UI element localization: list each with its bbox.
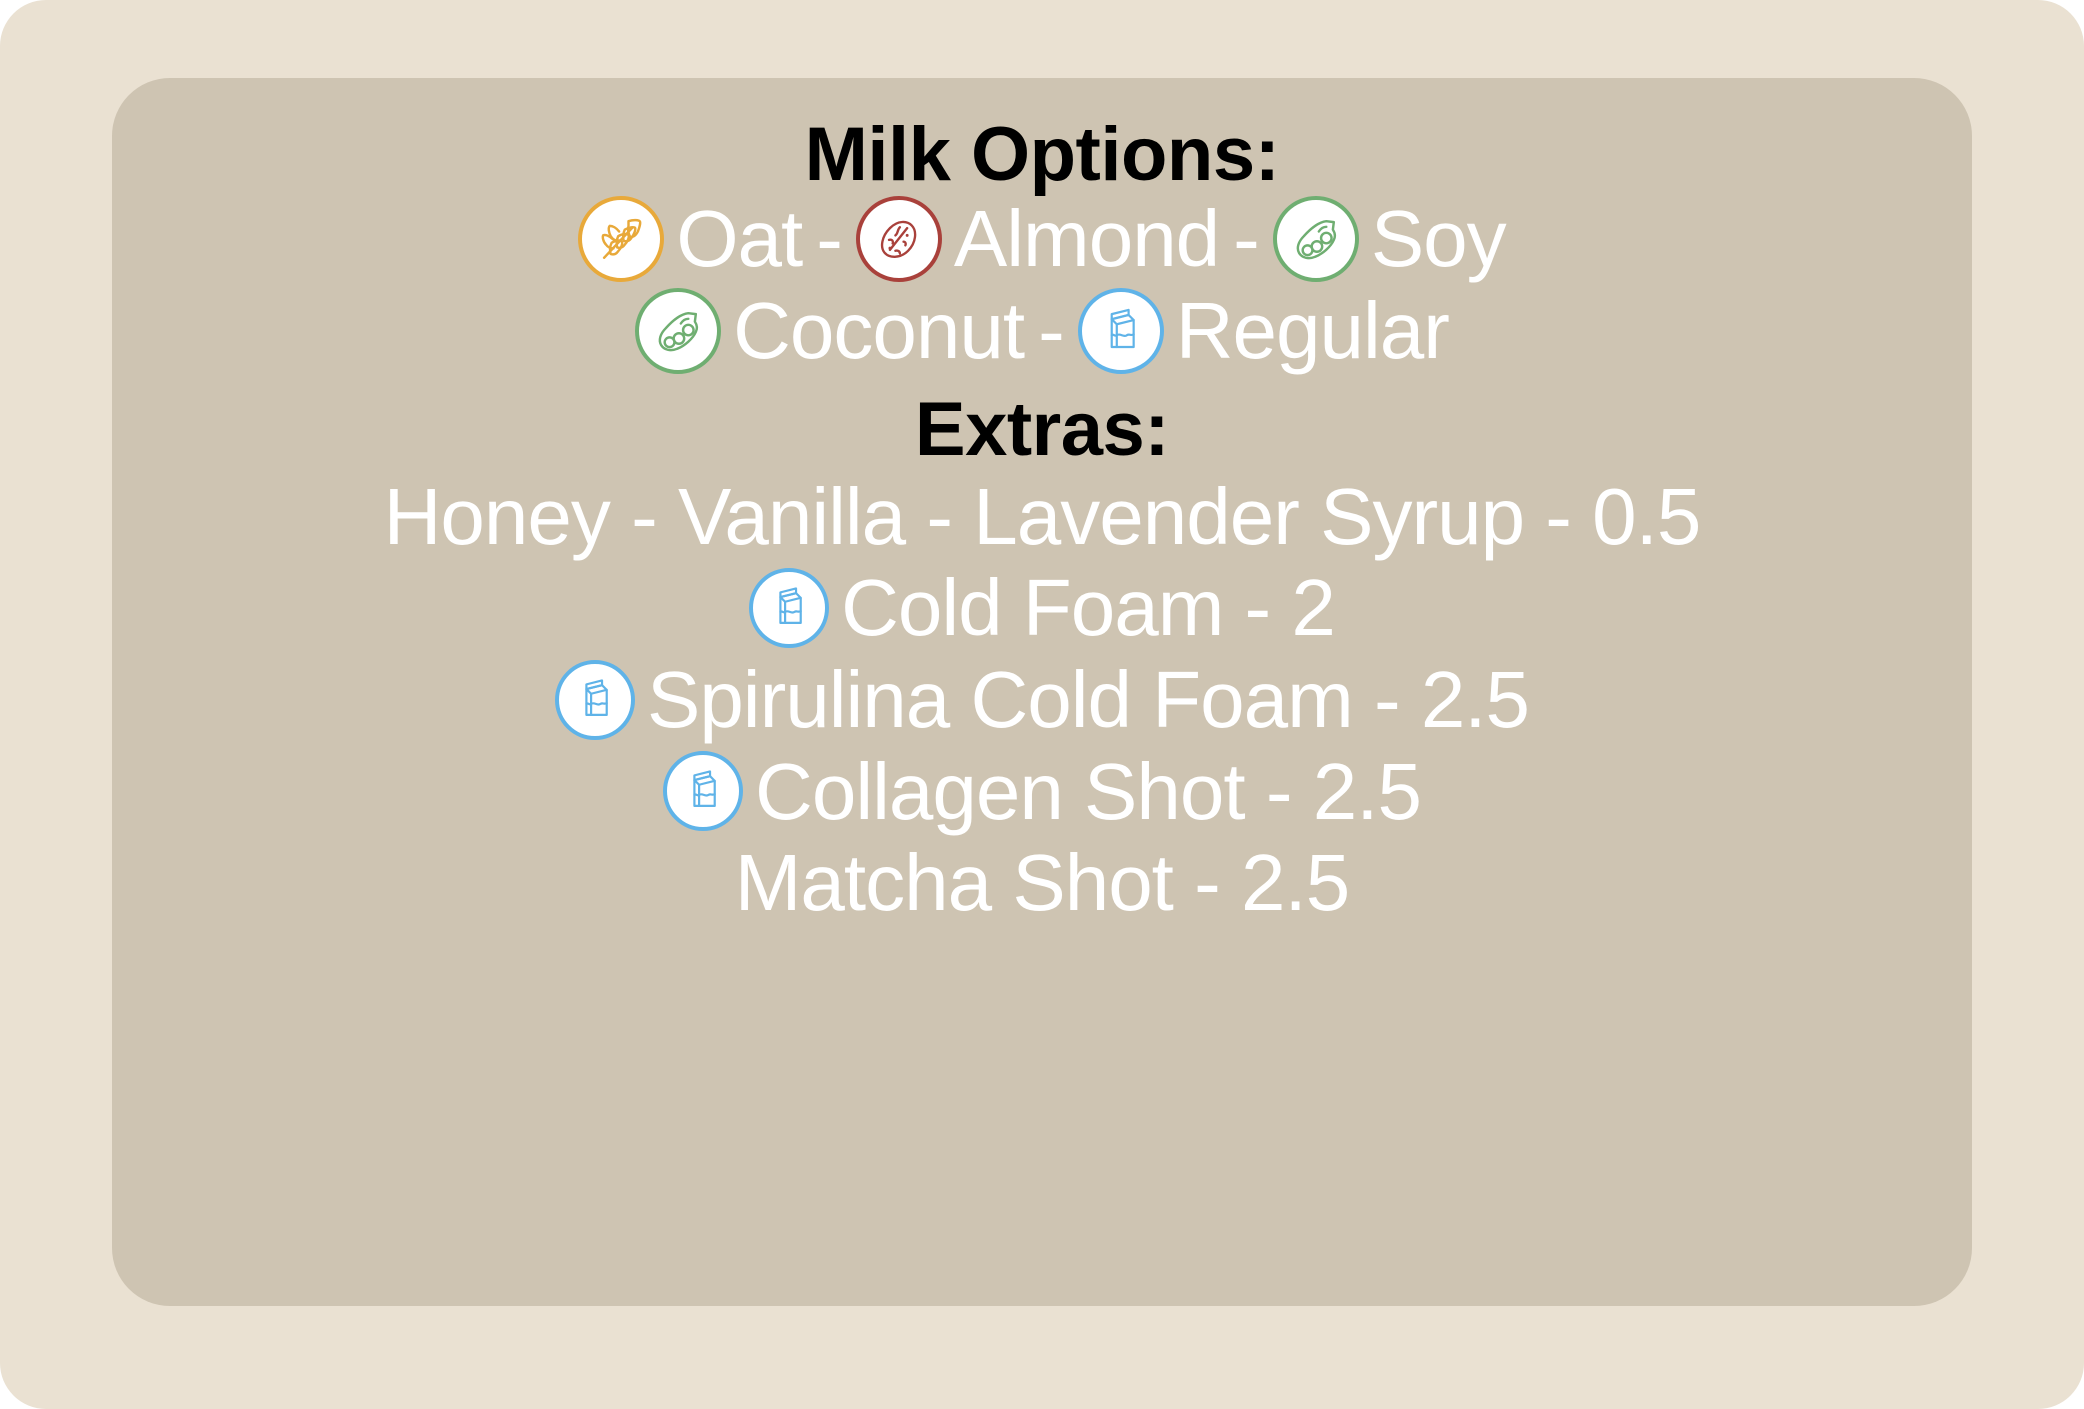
- menu-card: Milk Options: Oat -: [112, 78, 1972, 1306]
- soybean-pod-icon: [1273, 196, 1359, 282]
- extras-label-collagen-shot: Collagen Shot - 2.5: [755, 747, 1421, 837]
- extras-label-matcha-shot: Matcha Shot - 2.5: [735, 838, 1349, 928]
- milk-option-label-coconut: Coconut: [733, 286, 1024, 376]
- milk-options-row-2: Coconut - Regular: [635, 286, 1449, 376]
- extras-label-syrups: Honey - Vanilla - Lavender Syrup - 0.5: [384, 472, 1701, 562]
- extras-heading: Extras:: [915, 391, 1169, 469]
- milk-row-1-separator-1: -: [802, 194, 856, 284]
- wheat-stalk-icon: [578, 196, 664, 282]
- milk-option-label-soy: Soy: [1371, 194, 1506, 284]
- milk-options-row-1: Oat - Almond -: [578, 194, 1505, 284]
- almond-nut-icon: [856, 196, 942, 282]
- milk-carton-icon: [663, 751, 743, 831]
- extras-line-syrups: Honey - Vanilla - Lavender Syrup - 0.5: [384, 472, 1701, 562]
- extras-label-spirulina-cold-foam: Spirulina Cold Foam - 2.5: [647, 655, 1529, 745]
- extras-line-collagen-shot: Collagen Shot - 2.5: [663, 747, 1421, 837]
- milk-row-1-separator-2: -: [1219, 194, 1273, 284]
- extras-line-cold-foam: Cold Foam - 2: [749, 563, 1335, 653]
- extras-line-matcha-shot: Matcha Shot - 2.5: [735, 838, 1349, 928]
- milk-row-2-separator-1: -: [1024, 286, 1078, 376]
- extras-line-spirulina-cold-foam: Spirulina Cold Foam - 2.5: [555, 655, 1529, 745]
- milk-carton-icon: [555, 660, 635, 740]
- extras-label-cold-foam: Cold Foam - 2: [841, 563, 1335, 653]
- soybean-pod-icon: [635, 288, 721, 374]
- milk-option-label-almond: Almond: [954, 194, 1219, 284]
- milk-option-label-regular: Regular: [1176, 286, 1449, 376]
- milk-options-heading: Milk Options:: [805, 116, 1280, 194]
- milk-option-label-oat: Oat: [676, 194, 802, 284]
- menu-board: Milk Options: Oat -: [0, 0, 2084, 1409]
- milk-carton-icon: [1078, 288, 1164, 374]
- milk-carton-icon: [749, 568, 829, 648]
